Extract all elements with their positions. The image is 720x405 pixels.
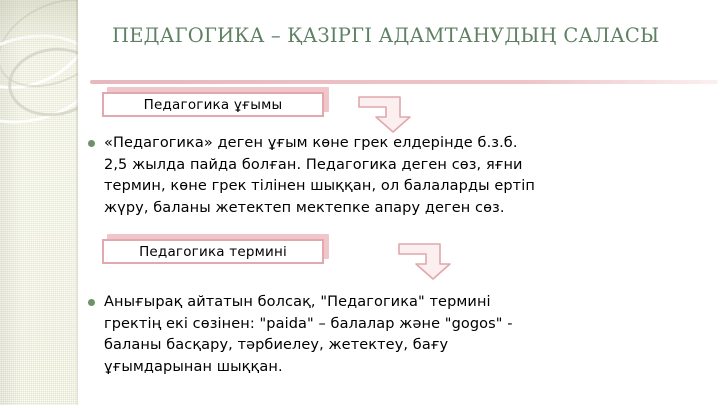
bent-arrow-right-down-icon — [398, 239, 460, 285]
decorative-band-edge — [76, 0, 78, 405]
callout-box-label: Педагогика термині — [139, 244, 287, 260]
bullet-dot-icon — [88, 299, 95, 306]
bullet-dot-icon — [88, 140, 95, 147]
callout-box-pedagogika-ugymy[interactable]: Педагогика ұғымы — [102, 92, 324, 117]
callout-box-label: Педагогика ұғымы — [144, 97, 283, 113]
bullet-item: «Педагогика» деген ұғым көне грек елдері… — [88, 133, 654, 219]
callout-box-pedagogika-termini[interactable]: Педагогика термині — [102, 239, 324, 264]
bullet-text: «Педагогика» деген ұғым көне грек елдері… — [104, 133, 535, 219]
presentation-slide: ПЕДАГОГИКА – ҚАЗІРГІ АДАМТАНУДЫҢ САЛАСЫ … — [0, 0, 720, 405]
bullet-text: Анығырақ айтатын болсақ, "Педагогика" те… — [104, 292, 513, 378]
bent-arrow-right-down-icon — [358, 92, 420, 138]
slide-title: ПЕДАГОГИКА – ҚАЗІРГІ АДАМТАНУДЫҢ САЛАСЫ — [112, 23, 692, 48]
bullet-item: Анығырақ айтатын болсақ, "Педагогика" те… — [88, 292, 654, 378]
decorative-side-band — [0, 0, 78, 405]
title-divider — [90, 80, 718, 84]
